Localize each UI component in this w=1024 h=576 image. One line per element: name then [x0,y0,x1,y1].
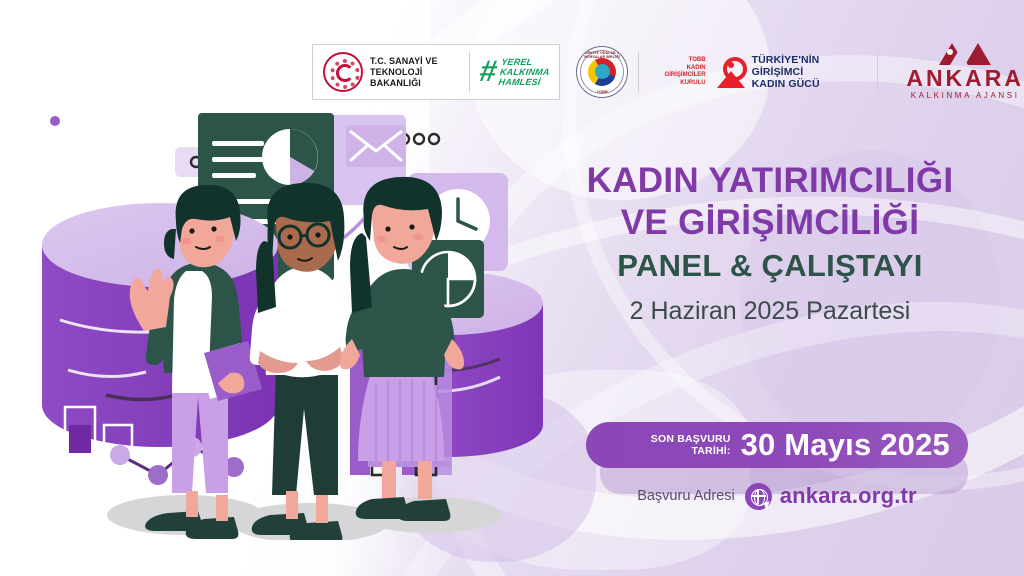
woman-figure-icon [714,55,748,89]
ministry-logo-text: T.C. SANAYİ VE TEKNOLOJİ BAKANLIĞI [370,56,459,89]
yerel-kalkinma-hamlesi-logo: # YEREL KALKINMA HAMLESİ [480,57,549,87]
cursor-pointer-icon [764,501,772,510]
ministry-logo-line2: TEKNOLOJİ BAKANLIĞI [370,67,459,89]
ykh-line1: YEREL [500,57,551,67]
poster-root: T.C. SANAYİ VE TEKNOLOJİ BAKANLIĞI # YER… [0,0,1024,576]
ankara-logo-subtitle: KALKINMA AJANSI [911,91,1020,101]
ankara-mark-right [965,43,991,65]
kgk-title-line1: TÜRKİYE'NİN GİRİŞİMCİ [752,54,864,78]
ankara-m-mark-icon [937,43,993,65]
headline-line-1: KADIN YATIRIMCILIĞI [540,160,1000,202]
ministry-gear-crescent-icon [323,52,363,92]
tobb-kadin-girisimciler-kurulu-logo: TOBB KADIN GİRİŞİMCİLER KURULU TÜRKİYE'N… [649,54,863,90]
logo-bar: T.C. SANAYİ VE TEKNOLOJİ BAKANLIĞI # YER… [312,44,1024,100]
deadline-label-line1: SON BAŞVURU [651,433,731,445]
tobb-seal-label: TOBB [577,89,627,94]
hashtag-icon: # [477,57,499,87]
kgk-line2: KADIN GİRİŞİMCİLER [649,65,705,80]
footer-application-address: Başvuru Adresi ankara.org.tr [586,478,968,514]
logo-white-box: T.C. SANAYİ VE TEKNOLOJİ BAKANLIĞI # YER… [312,44,560,100]
footer-label: Başvuru Adresi [637,488,735,504]
logo-divider-3 [877,52,878,92]
event-date: 2 Haziran 2025 Pazartesi [540,294,1000,328]
kgk-small-text: TOBB KADIN GİRİŞİMCİLER KURULU [649,57,705,87]
deadline-label-line2: TARİHİ: [651,445,731,457]
ykh-line3: HAMLESİ [498,77,549,87]
headline-block: KADIN YATIRIMCILIĞI VE GİRİŞİMCİLİĞİ PAN… [540,160,1000,328]
envelope-icon [346,125,406,167]
tobb-seal-icon: TÜRKİYE ODALAR VE BORSALAR BİRLİĞİ TOBB [576,46,628,98]
ykh-line2: KALKINMA [499,67,550,77]
illustration-three-businesswomen [20,95,580,540]
deadline-badge: SON BAŞVURU TARİHİ: 30 Mayıs 2025 [586,422,968,468]
kgk-title-text: TÜRKİYE'NİN GİRİŞİMCİ KADIN GÜCÜ [752,54,864,90]
woman-figure-body [717,71,745,88]
deadline-badge-label: SON BAŞVURU TARİHİ: [651,433,731,457]
logo-divider-1 [469,52,470,92]
headline-line-3: PANEL & ÇALIŞTAYI [540,246,1000,286]
woman-figure-dot [728,62,734,68]
deadline-date: 30 Mayıs 2025 [741,428,950,462]
kgk-title-line2: KADIN GÜCÜ [752,78,864,90]
logo-divider-2 [638,52,639,92]
footer-url[interactable]: ankara.org.tr [780,483,917,509]
tobb-logo: TÜRKİYE ODALAR VE BORSALAR BİRLİĞİ TOBB [576,46,649,98]
kgk-line3: KURULU [649,80,705,88]
headline-line-2: VE GİRİŞİMCİLİĞİ [540,202,1000,244]
ministry-logo-line1: T.C. SANAYİ VE [370,56,459,67]
yerel-kalkinma-hamlesi-text: YEREL KALKINMA HAMLESİ [498,57,552,87]
kgk-line1: TOBB [649,57,705,65]
ankara-logo-title: ANKARA [906,65,1024,91]
ankara-kalkinma-ajansi-logo: ANKARA KALKINMA AJANSI [906,43,1024,101]
globe-cursor-icon [745,483,772,510]
decor-dot [50,116,60,126]
